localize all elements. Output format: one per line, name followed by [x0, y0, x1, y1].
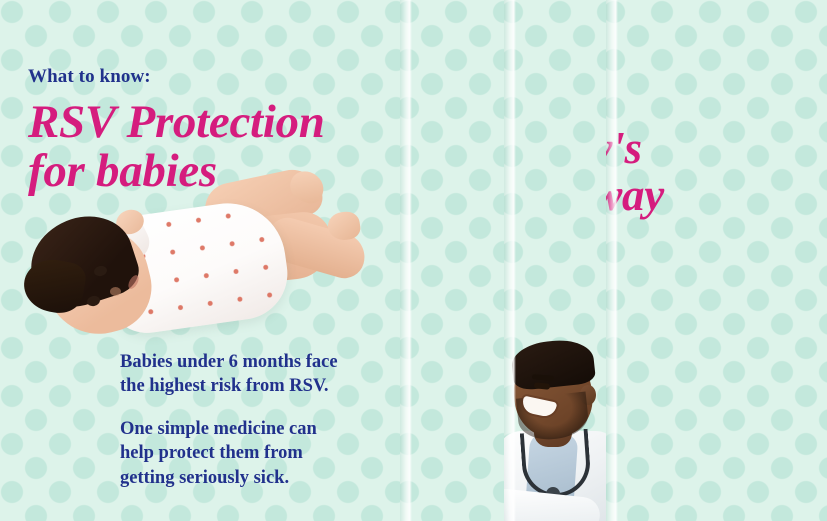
info-card-4[interactable]: Call your baby's doctor right away if yo… — [602, 0, 827, 521]
card-1-copy-1: Babies under 6 months face the highest r… — [120, 350, 338, 399]
info-card-2[interactable]: What are the facts? RSV (respiratory syn… — [396, 0, 504, 521]
baby-lying-down-photo — [8, 170, 368, 350]
card-1-eyebrow: What to know: — [28, 66, 151, 88]
info-card-1[interactable]: What to know: RSV Protection for babies — [0, 0, 400, 521]
card-4-headline: Call your baby's doctor right away if yo… — [602, 125, 664, 267]
card-1-copy-2: One simple medicine can help protect the… — [120, 417, 317, 490]
info-card-3[interactable]: These RSV medicines were studied in thou… — [500, 0, 606, 521]
smiling-doctor-photo — [500, 335, 606, 521]
rsv-carousel-stage: Call your baby's doctor right away if yo… — [0, 0, 827, 521]
